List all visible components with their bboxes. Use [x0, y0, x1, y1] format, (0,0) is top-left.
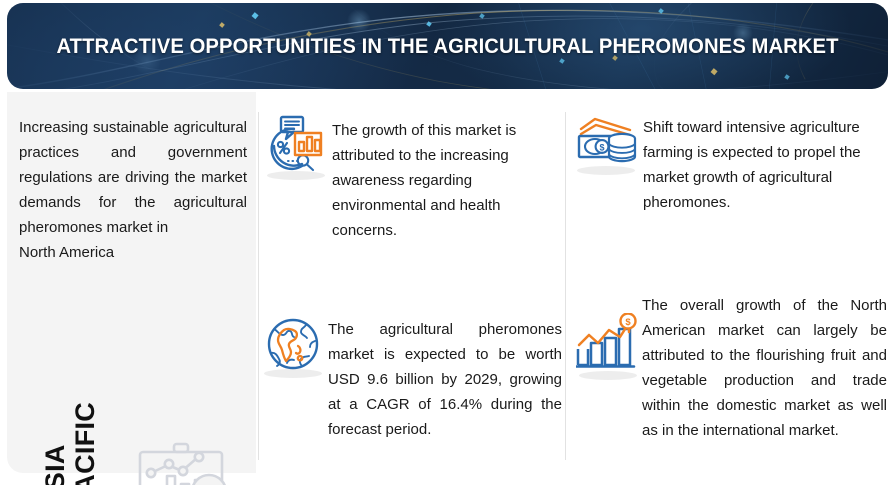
icon-shadow — [579, 371, 637, 380]
header-banner: ATTRACTIVE OPPORTUNITIES IN THE AGRICULT… — [7, 3, 888, 89]
icon-shadow — [577, 166, 635, 175]
analytics-percent-barchart-icon — [266, 115, 326, 177]
left-panel-summary: Increasing sustainable agricultural prac… — [19, 115, 247, 265]
insight-cell-intensive-agriculture-farming: $ Shift toward intensive agriculture far… — [575, 110, 890, 215]
left-panel-summary-text: Increasing sustainable agricultural prac… — [19, 119, 247, 236]
icon-shadow — [267, 171, 325, 180]
left-panel-summary-tail: North America — [19, 240, 247, 265]
insight-cell-text: Shift toward intensive agriculture farmi… — [643, 115, 888, 215]
growth-barchart-dollar-icon: $ — [576, 313, 640, 377]
region-label-line2: PACIFIC — [70, 350, 100, 485]
insight-cell-market-growth-awareness: The growth of this market is attributed … — [266, 115, 566, 243]
svg-text:$: $ — [625, 317, 631, 328]
insight-cell-market-value-forecast: The agricultural pheromones market is ex… — [262, 313, 567, 442]
insight-cell-text: The growth of this market is attributed … — [332, 118, 564, 243]
svg-text:$: $ — [599, 142, 604, 152]
icon-shadow — [264, 369, 322, 378]
column-divider-left — [258, 112, 259, 460]
region-label-line1: ASIA — [40, 350, 70, 485]
insight-cell-text: The overall growth of the North American… — [642, 293, 887, 443]
presentation-chart-magnifier-icon — [131, 440, 247, 485]
left-summary-panel: Increasing sustainable agricultural prac… — [7, 92, 256, 473]
page-title: ATTRACTIVE OPPORTUNITIES IN THE AGRICULT… — [33, 3, 861, 89]
money-cash-coins-icon: $ — [575, 110, 637, 172]
insight-cell-text: The agricultural pheromones market is ex… — [328, 317, 562, 442]
globe-icon — [262, 313, 324, 375]
insight-cell-north-america-growth-drivers: $ The overall growth of the North Americ… — [576, 293, 891, 443]
infographic-card: ATTRACTIVE OPPORTUNITIES IN THE AGRICULT… — [0, 0, 895, 485]
region-label: ASIA PACIFIC — [40, 350, 100, 485]
